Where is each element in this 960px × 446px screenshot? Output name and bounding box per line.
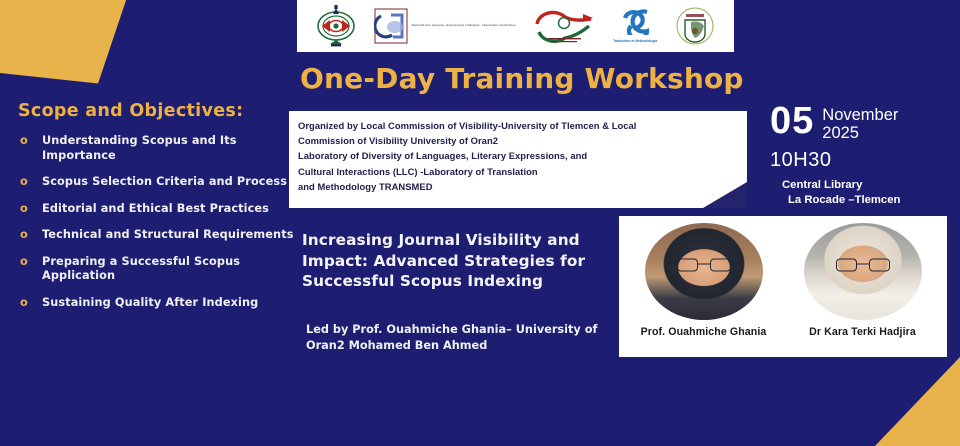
university-of-oran2-emblem-icon (675, 6, 715, 46)
logo-university-of-tlemcen-emblem (316, 4, 356, 48)
list-bullet-icon: o (20, 255, 28, 270)
event-datetime-block: 05 November 2025 10H30 Central Library L… (770, 104, 955, 208)
organizers-line-2: Commission of Visibility University of O… (298, 133, 738, 148)
panel-corner-notch (703, 182, 747, 208)
list-item-label: Technical and Structural Requirements (42, 228, 294, 241)
transmed-arabic-emblem-icon (533, 6, 595, 46)
list-item: o Preparing a Successful Scopus Applicat… (14, 255, 296, 285)
scope-objectives-list: o Understanding Scopus and Its Importanc… (14, 134, 296, 322)
event-month-year: November 2025 (822, 104, 898, 143)
list-bullet-icon: o (20, 175, 28, 190)
corner-decoration-top-left (0, 0, 137, 84)
venue-line-1: Central Library (782, 179, 862, 191)
organizer-logo-strip: Diversité des Langues, Expressions Litté… (297, 0, 734, 52)
list-item-label: Editorial and Ethical Best Practices (42, 202, 269, 215)
page-title: One-Day Training Workshop (300, 62, 744, 95)
speaker-name: Dr Kara Terki Hadjira (785, 326, 940, 338)
speakers-panel: Prof. Ouahmiche Ghania Dr Kara Terki Had… (619, 216, 947, 357)
list-bullet-icon: o (20, 296, 28, 311)
organizers-line-5: and Methodology TRANSMED (298, 179, 738, 194)
speaker-photo-kara-terki-hadjira (804, 223, 922, 320)
event-date-row: 05 November 2025 (770, 104, 955, 143)
list-item: o Technical and Structural Requirements (14, 228, 296, 243)
university-of-tlemcen-emblem-icon (316, 4, 356, 48)
list-item-label: Sustaining Quality After Indexing (42, 296, 258, 309)
list-bullet-icon: o (20, 134, 28, 149)
session-title: Increasing Journal Visibility and Impact… (302, 230, 614, 292)
glasses-icon (836, 258, 890, 271)
list-item: o Editorial and Ethical Best Practices (14, 202, 296, 217)
list-item-label: Understanding Scopus and Its Importance (42, 134, 237, 162)
logo-university-of-oran2 (675, 6, 715, 46)
list-bullet-icon: o (20, 228, 28, 243)
logo-transmed-arabic-emblem (533, 6, 595, 46)
logo-llc-caption: Diversité des Langues, Expressions Litté… (412, 24, 516, 28)
logo-llc-laboratory: Diversité des Langues, Expressions Litté… (374, 8, 516, 44)
diagonal-stripe-top-right-inner (824, 0, 960, 32)
logo-traduction-caption: Traduction et Méthodologie (613, 39, 657, 43)
list-item: o Understanding Scopus and Its Importanc… (14, 134, 296, 164)
list-item-label: Scopus Selection Criteria and Process (42, 175, 287, 188)
event-year: 2025 (822, 124, 898, 142)
list-item: o Scopus Selection Criteria and Process (14, 175, 296, 190)
speaker-name: Prof. Ouahmiche Ghania (626, 326, 781, 338)
speaker-card: Prof. Ouahmiche Ghania (626, 222, 781, 338)
traduction-et-methodologie-icon (613, 8, 657, 35)
event-time: 10H30 (770, 149, 955, 172)
event-day: 05 (770, 104, 814, 139)
list-bullet-icon: o (20, 202, 28, 217)
session-presenter: Led by Prof. Ouahmiche Ghania– Universit… (306, 322, 618, 353)
organizers-panel: Organized by Local Commission of Visibil… (289, 111, 747, 208)
venue-line-2: La Rocade –Tlemcen (782, 193, 955, 208)
logo-traduction-et-methodologie: Traduction et Méthodologie (613, 8, 657, 43)
list-item: o Sustaining Quality After Indexing (14, 296, 296, 311)
organizers-line-1: Organized by Local Commission of Visibil… (298, 118, 738, 133)
event-month: November (822, 106, 898, 124)
organizers-line-3: Laboratory of Diversity of Languages, Li… (298, 148, 738, 163)
speaker-card: Dr Kara Terki Hadjira (785, 222, 940, 338)
organizers-line-4: Cultural Interactions (LLC) -Laboratory … (298, 164, 738, 179)
event-venue: Central Library La Rocade –Tlemcen (782, 178, 955, 208)
speaker-photo-ouahmiche-ghania (645, 223, 763, 320)
scope-heading: Scope and Objectives: (18, 101, 243, 121)
llc-laboratory-icon (374, 8, 408, 44)
glasses-icon (677, 258, 731, 271)
list-item-label: Preparing a Successful Scopus Applicatio… (42, 255, 240, 283)
